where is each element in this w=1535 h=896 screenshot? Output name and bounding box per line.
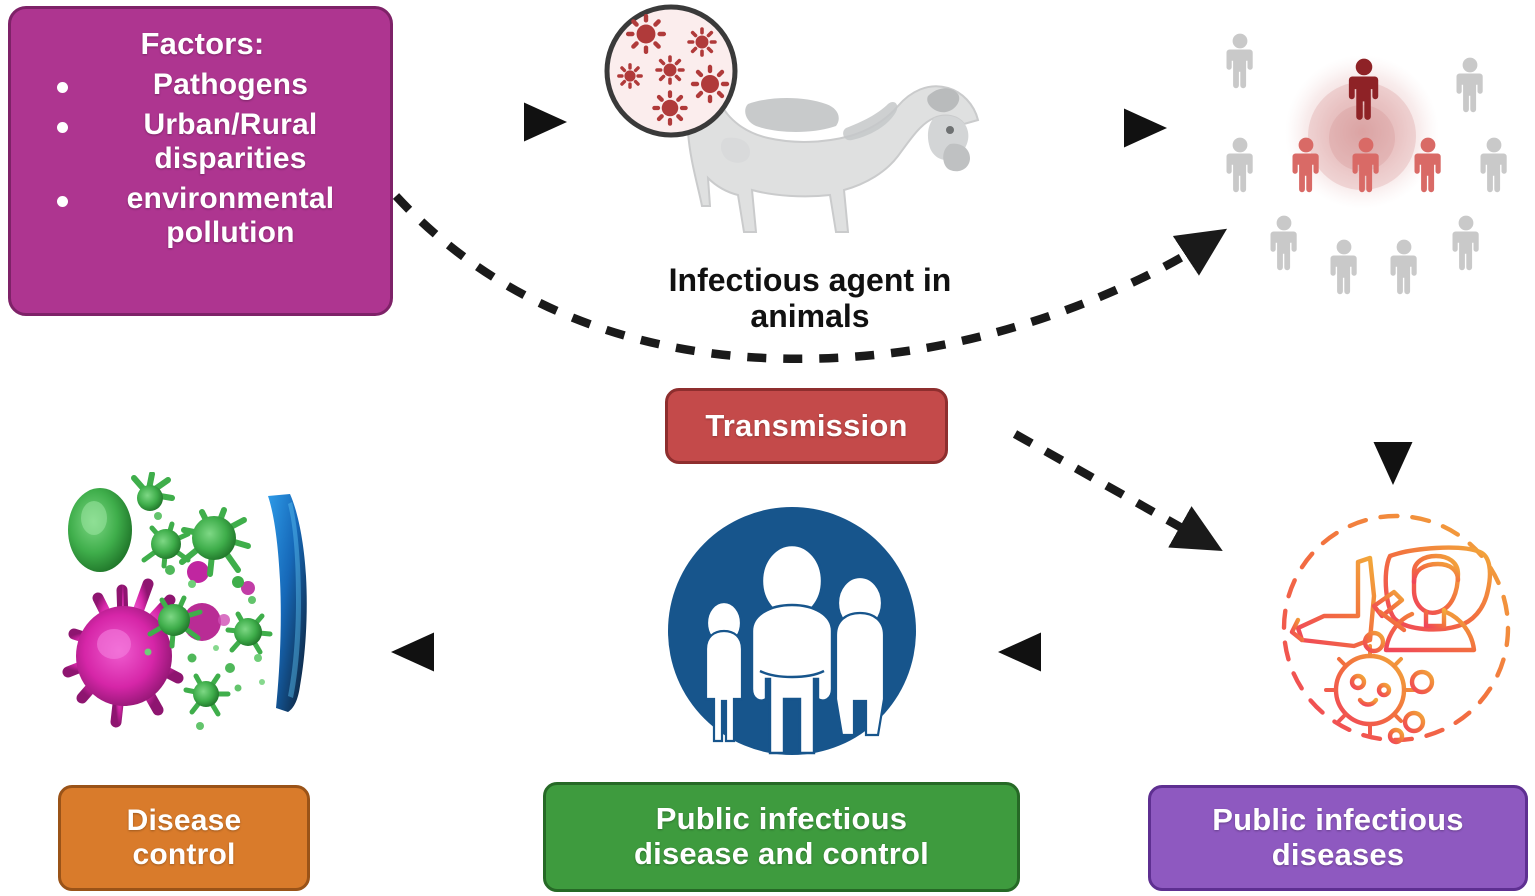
crowd-illustration xyxy=(1192,14,1532,304)
person-icon xyxy=(1481,138,1507,193)
animal-caption-line1: Infectious agent in xyxy=(620,263,1000,299)
factors-list: Pathogens Urban/Rural disparities enviro… xyxy=(31,68,374,251)
person-icon xyxy=(1227,34,1253,89)
person-icon xyxy=(1271,216,1297,271)
magenta-virus-icon xyxy=(68,561,255,722)
factors-box[interactable]: Factors: Pathogens Urban/Rural dispariti… xyxy=(8,6,393,316)
sick-illustration xyxy=(1262,500,1530,755)
person-icon xyxy=(1391,240,1417,295)
pidc-label-line2: disease and control xyxy=(634,837,929,872)
diagram-canvas: Factors: Pathogens Urban/Rural dispariti… xyxy=(0,0,1535,896)
factors-item-urban-rural-disparities: Urban/Rural disparities xyxy=(45,108,374,176)
blue-shard-icon xyxy=(268,494,307,712)
disease-control-label-line2: control xyxy=(127,838,242,872)
arrow-transmission-to-sick xyxy=(1015,434,1205,541)
transmission-box[interactable]: Transmission xyxy=(665,388,948,464)
public-family-icon xyxy=(668,507,916,755)
microbes-illustration xyxy=(52,472,357,737)
animal-caption: Infectious agent in animals xyxy=(620,263,1000,335)
cow-illustration xyxy=(598,0,1018,265)
factors-item-pathogens: Pathogens xyxy=(45,68,374,102)
animal-caption-line2: animals xyxy=(620,299,1000,335)
disease-control-box[interactable]: Disease control xyxy=(58,785,310,891)
person-icon xyxy=(1227,138,1253,193)
pathogen-magnifier-icon xyxy=(607,7,735,135)
family-illustration xyxy=(652,503,932,758)
factors-title: Factors: xyxy=(31,27,374,62)
person-icon xyxy=(1331,240,1357,295)
transmission-label: Transmission xyxy=(705,409,907,444)
factors-item-environmental-pollution: environmental pollution xyxy=(45,182,374,250)
public-infectious-disease-and-control-box[interactable]: Public infectious disease and control xyxy=(543,782,1020,892)
pid-label-line1: Public infectious xyxy=(1212,803,1463,838)
sick-person-icon xyxy=(1284,516,1508,742)
public-infectious-diseases-box[interactable]: Public infectious diseases xyxy=(1148,785,1528,891)
person-icon xyxy=(1457,58,1483,113)
pidc-label-line1: Public infectious xyxy=(634,802,929,837)
disease-control-label-line1: Disease xyxy=(127,804,242,838)
person-icon xyxy=(1453,216,1479,271)
pid-label-line2: diseases xyxy=(1212,838,1463,873)
